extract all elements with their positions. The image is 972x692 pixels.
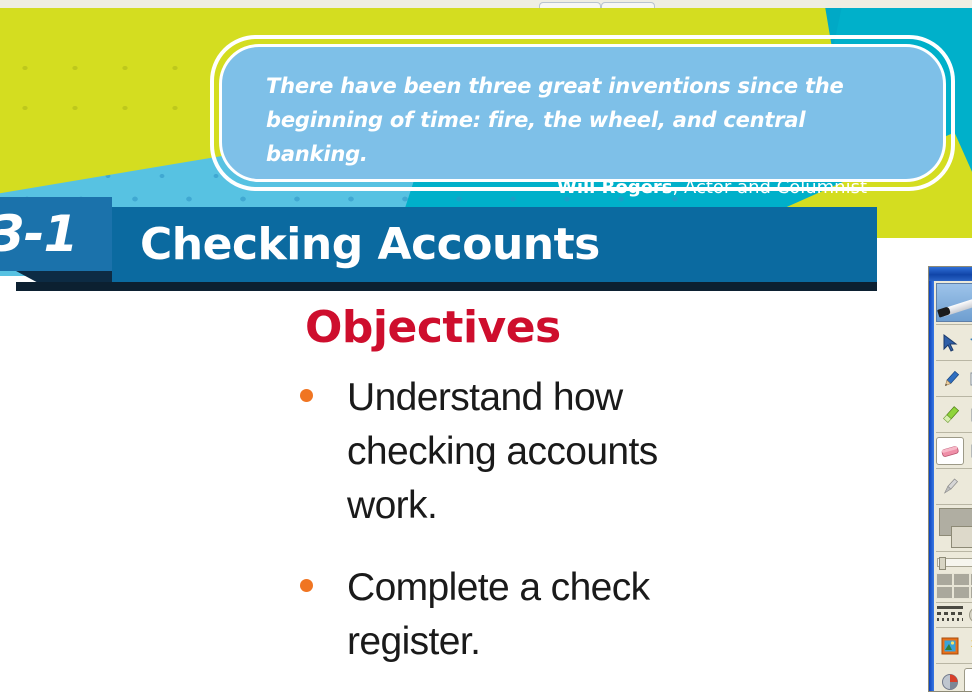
quote-author-role: , Actor and Columnist [673, 177, 867, 198]
dashed-lines-icon [937, 606, 963, 624]
section-number-tab: 3-1 [0, 197, 112, 271]
slide-body: Objectives Understand how checking accou… [0, 291, 920, 692]
divider [936, 432, 972, 433]
palette-row-color [934, 666, 972, 692]
undo-tool[interactable] [964, 329, 972, 357]
title-bar-shadow [16, 282, 877, 291]
page-properties-tool[interactable] [964, 668, 972, 692]
bullet-dot-icon [300, 389, 313, 402]
eraser-tool[interactable] [936, 437, 964, 465]
highlighter-icon [940, 405, 960, 425]
color-swatch[interactable] [953, 573, 970, 586]
quote-text: There have been three great inventions s… [266, 69, 866, 171]
paint-can-tool[interactable] [964, 437, 972, 465]
color-swatch[interactable] [953, 586, 970, 599]
palette-row-insert: X [934, 630, 972, 661]
list-item: Understand how checking accounts work. [300, 371, 720, 533]
palette-row-pen: a [934, 363, 972, 394]
line-dashed [937, 612, 963, 615]
slide-screenshot: There have been three great inventions s… [0, 0, 972, 692]
page-title: Checking Accounts [112, 207, 877, 282]
text-tool[interactable]: a [964, 365, 972, 393]
fill-color-tool[interactable] [936, 668, 964, 692]
eraser-icon [940, 444, 960, 458]
pencil-icon [940, 369, 960, 389]
divider [936, 602, 972, 603]
color-swatch[interactable] [936, 586, 953, 599]
quote-attribution: Will Rogers, Actor and Columnist [266, 177, 909, 198]
highlighter-tool[interactable] [936, 401, 964, 429]
divider [936, 360, 972, 361]
bullet-dot-icon [300, 579, 313, 592]
divider [936, 468, 972, 469]
rectangle-secondary-icon [951, 526, 972, 548]
divider [936, 396, 972, 397]
color-swatch[interactable] [936, 573, 953, 586]
annotation-tool-palette[interactable]: a [928, 266, 972, 692]
insert-picture-tool[interactable] [936, 632, 964, 660]
line-width-slider[interactable] [937, 558, 972, 567]
palette-row-select [934, 327, 972, 358]
divider [936, 324, 972, 325]
divider [936, 663, 972, 664]
select-pointer-tool[interactable] [936, 329, 964, 357]
list-item: Complete a check register. [300, 561, 720, 669]
divider [936, 551, 972, 552]
divider [936, 627, 972, 628]
eyedropper-tool[interactable] [936, 473, 964, 501]
slide-title-bar: Checking Accounts [112, 207, 877, 282]
shape-fill-tool[interactable] [964, 401, 972, 429]
magic-pen-tool[interactable] [964, 473, 972, 501]
list-item-label: Understand how checking accounts work. [347, 371, 720, 533]
line-style-picker[interactable] [937, 606, 972, 624]
slider-thumb[interactable] [939, 557, 946, 570]
palette-title-bar[interactable] [929, 267, 972, 282]
section-number-label: 3-1 [0, 197, 112, 271]
pen-tip-icon [937, 306, 951, 317]
shape-picker[interactable] [937, 508, 972, 548]
pen-tool[interactable] [936, 365, 964, 393]
palette-row-eyedropper [934, 471, 972, 502]
color-wheel-icon [941, 673, 959, 691]
line-solid [937, 606, 963, 609]
line-dotted [937, 618, 963, 621]
color-swatches[interactable] [936, 573, 972, 599]
window-chrome-sliver [0, 0, 972, 8]
cursor-arrow-icon [941, 334, 959, 352]
table-tool[interactable]: X [964, 632, 972, 660]
divider [936, 504, 972, 505]
quote-author: Will Rogers [557, 177, 673, 198]
objectives-bullet-list: Understand how checking accounts work. C… [300, 371, 720, 692]
quote-callout-inner: There have been three great inventions s… [219, 44, 946, 182]
eyedropper-icon [940, 477, 960, 497]
list-item-label: Complete a check register. [347, 561, 720, 669]
palette-body: a [934, 281, 972, 691]
palette-row-eraser [934, 435, 972, 466]
picture-frame-icon [941, 637, 959, 655]
objectives-heading: Objectives [305, 302, 561, 353]
quote-callout: There have been three great inventions s… [210, 35, 955, 191]
palette-row-highlighter [934, 399, 972, 430]
pen-preview [936, 283, 972, 322]
